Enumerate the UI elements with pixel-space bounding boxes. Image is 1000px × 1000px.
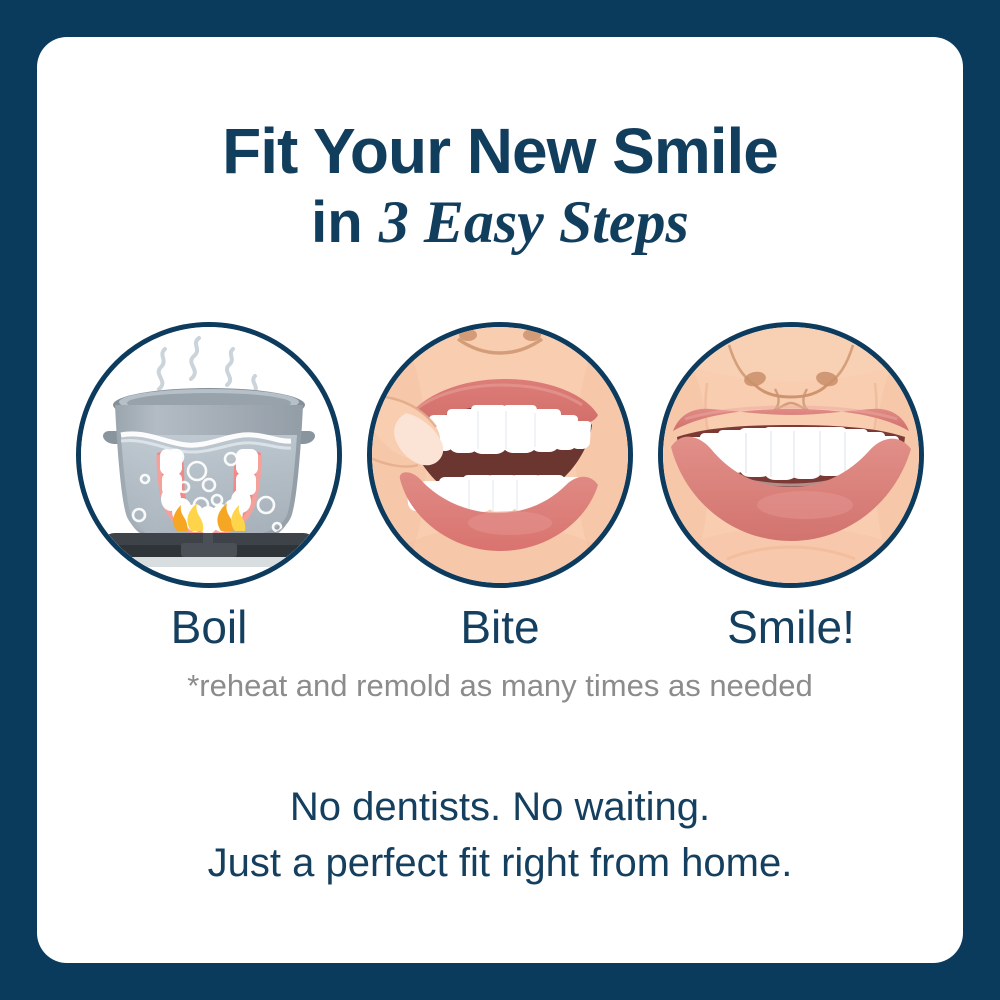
tagline-line-2: Just a perfect fit right from home. — [37, 835, 963, 891]
bite-open-mouth-icon — [367, 322, 633, 588]
footnote-text: *reheat and remold as many times as need… — [37, 667, 963, 705]
promo-card: Fit Your New Smile in 3 Easy Steps — [37, 37, 963, 963]
headline-line-2-prefix: in — [311, 190, 379, 255]
step-smile: Smile! — [658, 322, 924, 653]
step-bite: Bite — [367, 322, 633, 653]
headline-line-2: in 3 Easy Steps — [37, 187, 963, 258]
smiling-mouth-icon — [658, 322, 924, 588]
promo-graphic-frame: Fit Your New Smile in 3 Easy Steps — [0, 0, 1000, 1000]
boiling-pot-denture-icon — [76, 322, 342, 588]
step-boil: Boil — [76, 322, 342, 653]
tagline-line-1: No dentists. No waiting. — [37, 779, 963, 835]
headline-emphasis: 3 Easy Steps — [379, 189, 689, 255]
step-label-boil: Boil — [76, 601, 342, 653]
page-title: Fit Your New Smile in 3 Easy Steps — [37, 115, 963, 258]
step-label-bite: Bite — [367, 601, 633, 653]
headline-line-1: Fit Your New Smile — [37, 115, 963, 187]
tagline: No dentists. No waiting. Just a perfect … — [37, 779, 963, 891]
steps-row: Boil — [37, 322, 963, 653]
step-label-smile: Smile! — [658, 601, 924, 653]
